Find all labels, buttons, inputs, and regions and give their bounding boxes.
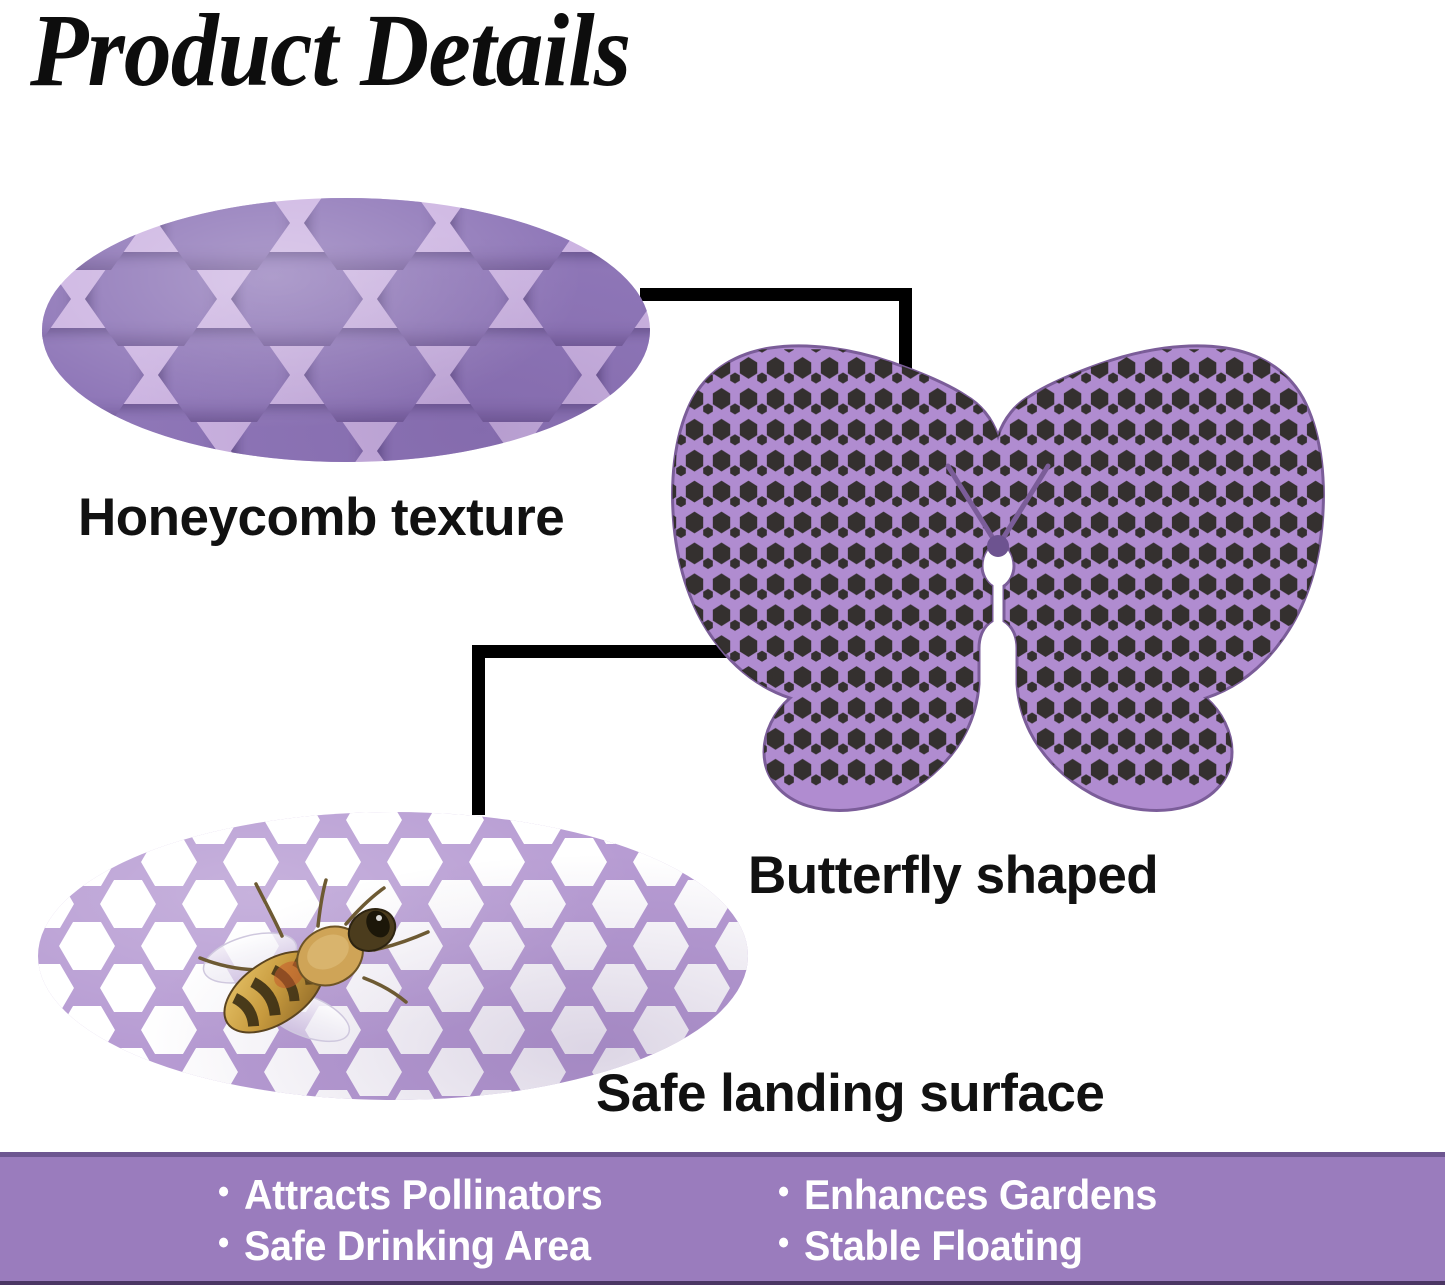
mesh-hole (59, 922, 115, 970)
mesh-hole (59, 838, 115, 886)
mesh-hole (510, 1048, 566, 1096)
mesh-hole (510, 880, 566, 928)
benefit-item-stable-floating: • Stable Floating (778, 1222, 1405, 1270)
mesh-hole (551, 838, 607, 886)
butterfly-hex-perforations (672, 349, 1324, 786)
mesh-hole (469, 838, 525, 886)
mesh-hole (182, 812, 238, 844)
benefit-label: Stable Floating (804, 1222, 1083, 1270)
mesh-hole (469, 1006, 525, 1054)
mesh-hole (264, 812, 320, 844)
benefit-label: Attracts Pollinators (244, 1171, 603, 1219)
mesh-hole (38, 1048, 74, 1096)
bullet-icon: • (778, 1175, 789, 1209)
honeycomb-texture-image (42, 198, 650, 462)
mesh-hole (592, 964, 648, 1012)
mesh-hole (428, 812, 484, 844)
benefit-item-safe-drinking-area: • Safe Drinking Area (218, 1222, 744, 1270)
mesh-hole (551, 922, 607, 970)
mesh-hole (633, 922, 689, 970)
benefit-item-attracts-pollinators: • Attracts Pollinators (218, 1171, 744, 1219)
mesh-hole (38, 964, 74, 1012)
mesh-hole (715, 838, 748, 886)
product-details-infographic: Product Details (0, 0, 1445, 1285)
benefit-item-enhances-gardens: • Enhances Gardens (778, 1171, 1405, 1219)
mesh-hole (469, 922, 525, 970)
mesh-hole (551, 1006, 607, 1054)
mesh-hole (510, 964, 566, 1012)
safe-landing-surface-image (38, 812, 748, 1100)
mesh-hole (346, 812, 402, 844)
mesh-hole (715, 1006, 748, 1054)
bullet-icon: • (778, 1226, 789, 1260)
mesh-hole (38, 812, 74, 844)
page-title: Product Details (30, 0, 630, 108)
mesh-hole (387, 1090, 443, 1100)
benefits-list: • Attracts Pollinators • Enhances Garden… (0, 1157, 1445, 1281)
mesh-hole (633, 1006, 689, 1054)
mesh-hole (592, 812, 648, 844)
bullet-icon: • (218, 1226, 229, 1260)
bee-eye-highlight (376, 915, 382, 921)
connector-vertical-segment (472, 645, 485, 815)
mesh-hole (510, 812, 566, 844)
mesh-hole (59, 1006, 115, 1054)
mesh-hole (674, 812, 730, 844)
mesh-hole (715, 922, 748, 970)
mesh-hole (100, 880, 156, 928)
mesh-hole (100, 964, 156, 1012)
mesh-hole (592, 880, 648, 928)
mesh-hole (100, 1048, 156, 1096)
mesh-hole (305, 1090, 361, 1100)
mesh-hole (100, 812, 156, 844)
mesh-hole (469, 1090, 525, 1100)
mesh-hole (141, 1090, 197, 1100)
mesh-hole (674, 964, 730, 1012)
butterfly-head-dot (987, 535, 1009, 557)
mesh-hole (223, 1090, 279, 1100)
mesh-hole (633, 838, 689, 886)
honeybee-illustration (178, 874, 438, 1064)
butterfly-shaped-image (648, 318, 1348, 830)
benefits-banner: • Attracts Pollinators • Enhances Garden… (0, 1152, 1445, 1285)
benefit-label: Safe Drinking Area (244, 1222, 591, 1270)
mesh-hole (59, 1090, 115, 1100)
bullet-icon: • (218, 1175, 229, 1209)
mesh-hole (674, 880, 730, 928)
benefit-label: Enhances Gardens (804, 1171, 1157, 1219)
mesh-hole (38, 880, 74, 928)
label-honeycomb-texture: Honeycomb texture (78, 487, 564, 548)
label-safe-landing-surface: Safe landing surface (596, 1063, 1104, 1124)
connector-horizontal-segment (640, 288, 912, 301)
label-butterfly-shaped: Butterfly shaped (748, 845, 1158, 906)
